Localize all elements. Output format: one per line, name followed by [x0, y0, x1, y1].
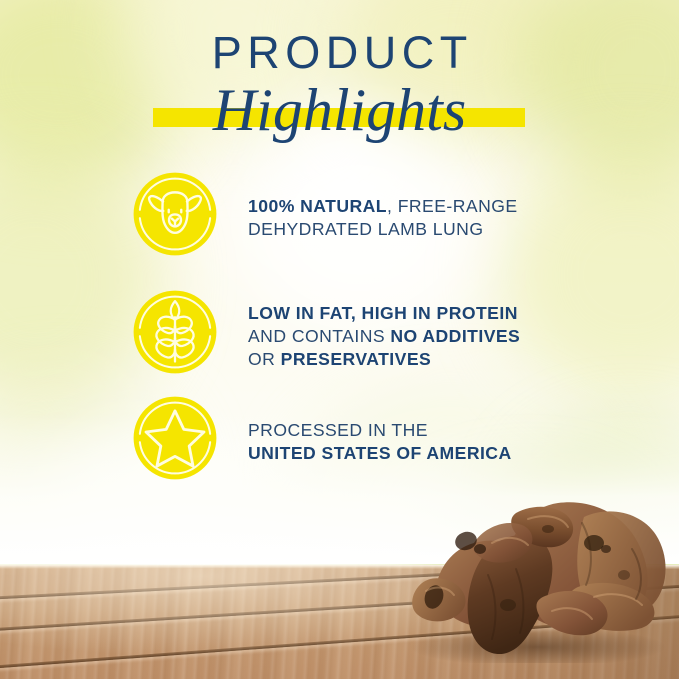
text-segment: AND CONTAINS: [248, 326, 390, 346]
text-segment: , FREE-RANGE: [387, 196, 518, 216]
list-item-text: PROCESSED IN THE UNITED STATES OF AMERIC…: [248, 392, 602, 465]
wheat-stalk-icon: [129, 286, 221, 378]
list-item-text: LOW IN FAT, HIGH IN PROTEIN AND CONTAINS…: [248, 286, 610, 371]
text-segment: PRESERVATIVES: [281, 349, 432, 369]
text-segment: LOW IN FAT, HIGH IN PROTEIN: [248, 303, 518, 323]
page-title-line1: PRODUCT: [0, 30, 679, 77]
text-segment: PROCESSED IN THE: [248, 420, 428, 440]
list-item: 100% NATURAL, FREE-RANGE DEHYDRATED LAMB…: [0, 168, 679, 270]
highlights-list: 100% NATURAL, FREE-RANGE DEHYDRATED LAMB…: [0, 168, 679, 474]
product-highlights-image: PRODUCT Highlights: [0, 0, 679, 679]
page-title-line2: Highlights: [0, 79, 679, 141]
page-title-line2-wrap: Highlights: [0, 79, 679, 141]
lamb-head-icon: [129, 168, 221, 260]
header: PRODUCT Highlights: [0, 30, 679, 141]
list-item: LOW IN FAT, HIGH IN PROTEIN AND CONTAINS…: [0, 286, 679, 388]
list-item-text: 100% NATURAL, FREE-RANGE DEHYDRATED LAMB…: [248, 168, 608, 241]
list-item: PROCESSED IN THE UNITED STATES OF AMERIC…: [0, 392, 679, 494]
text-segment: OR: [248, 349, 281, 369]
text-segment: DEHYDRATED LAMB LUNG: [248, 219, 483, 239]
star-icon: [129, 392, 221, 484]
text-segment: 100% NATURAL: [248, 196, 387, 216]
text-segment: NO ADDITIVES: [390, 326, 520, 346]
product-lamb-lung-pile: [388, 483, 679, 663]
text-segment: UNITED STATES OF AMERICA: [248, 443, 512, 463]
